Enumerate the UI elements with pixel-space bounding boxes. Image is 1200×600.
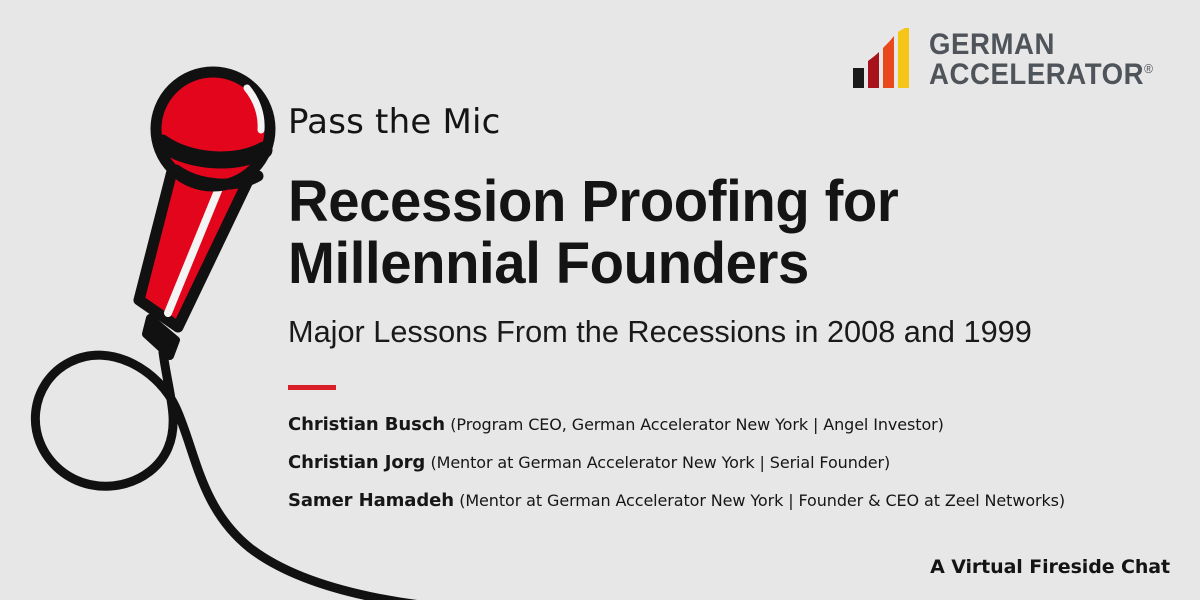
accent-divider [288,385,336,390]
logo-bar-3 [883,36,894,88]
title-line-1: Recession Proofing for [288,171,1142,233]
logo-bar-2 [868,52,879,88]
microphone-head [156,72,270,186]
speaker-role: (Program CEO, German Accelerator New Yor… [450,415,943,434]
speaker-list: Christian Busch (Program CEO, German Acc… [288,416,1168,510]
microphone-head-rim [176,170,258,184]
speaker-role: (Mentor at German Accelerator New York |… [459,491,1065,510]
microphone-head-highlight [247,88,261,130]
microphone-head-band [162,143,264,160]
microphone-body-highlight [168,176,224,313]
event-promo-slide: GERMAN ACCELERATOR® Pass the Mic Recessi… [0,0,1200,600]
page-subtitle: Major Lessons From the Recessions in 200… [288,313,1159,350]
brand-logo: GERMAN ACCELERATOR® [851,28,1172,90]
list-item: Christian Busch (Program CEO, German Acc… [288,416,1168,434]
title-line-2: Millennial Founders [288,233,1142,295]
series-eyebrow: Pass the Mic [288,104,1168,141]
logo-bar-4 [898,28,909,88]
speaker-name: Samer Hamadeh [288,490,454,511]
event-format-note: A Virtual Fireside Chat [930,556,1170,578]
page-title: Recession Proofing for Millennial Founde… [288,171,1142,295]
wordmark-line-german: GERMAN [929,30,1153,59]
brand-wordmark: GERMAN ACCELERATOR® [929,30,1172,90]
microphone-body [139,140,247,327]
list-item: Christian Jorg (Mentor at German Acceler… [288,454,1168,472]
speaker-name: Christian Busch [288,414,445,435]
speaker-name: Christian Jorg [288,452,425,473]
microphone-connector [146,318,176,356]
content-block: Pass the Mic Recession Proofing for Mill… [288,104,1168,510]
german-accelerator-bars-logo [851,28,917,90]
registered-trademark-icon: ® [1144,61,1153,76]
wordmark-line-accelerator: ACCELERATOR® [929,60,1153,89]
wordmark-accelerator-text: ACCELERATOR [929,58,1144,91]
speaker-role: (Mentor at German Accelerator New York |… [430,453,890,472]
logo-bar-1 [853,68,864,88]
list-item: Samer Hamadeh (Mentor at German Accelera… [288,492,1168,510]
